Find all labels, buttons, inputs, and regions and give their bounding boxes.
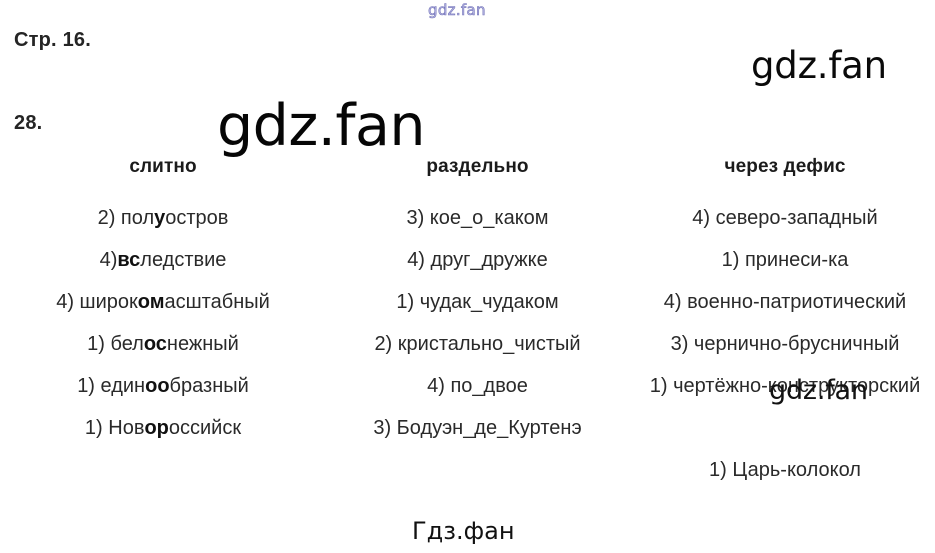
column-header: через дефис <box>724 155 845 179</box>
answer-item: 4) широкомасштабный <box>56 281 270 323</box>
answer-text-prefix: 1) Нов <box>85 415 145 442</box>
answer-text-suffix: ледствие <box>140 247 226 274</box>
answer-item: 4) военно-патриотический <box>664 281 906 323</box>
watermark-top: gdz.fan <box>428 1 486 19</box>
answer-item: 1) Новороссийск <box>85 407 241 449</box>
answer-columns: слитно 2) полуостров 4) вследствие 4) ши… <box>0 155 935 491</box>
answer-text-bold: оо <box>145 373 169 400</box>
answer-item: 1) принеси-ка <box>722 239 849 281</box>
answer-item: 1) чудак_чудаком <box>396 281 558 323</box>
answer-item: 4) по_двое <box>427 365 528 407</box>
answer-text-suffix: оссийск <box>169 415 241 442</box>
answer-column-razdelno: раздельно 3) кое_о_каком 4) друг_дружке … <box>320 155 635 449</box>
answer-item: 4) северо-западный <box>692 197 877 239</box>
answer-text-bold: ос <box>144 331 167 358</box>
watermark-center: gdz.fan <box>217 93 425 159</box>
column-header: слитно <box>129 155 196 179</box>
watermark-top-right: gdz.fan <box>751 44 887 87</box>
answer-item: 1) белоснежный <box>87 323 239 365</box>
answer-text-prefix: 4) широк <box>56 289 138 316</box>
watermark-bottom: Гдз.фан <box>412 517 515 545</box>
answer-column-slitno: слитно 2) полуостров 4) вследствие 4) ши… <box>0 155 320 449</box>
page-label: Стр. 16. <box>14 29 91 52</box>
answer-item: 1) Царь-колокол <box>709 449 861 491</box>
answer-text-suffix: остров <box>165 205 228 232</box>
answer-item: 2) кристально_чистый <box>374 323 580 365</box>
answer-item: 1) единообразный <box>77 365 249 407</box>
answer-text-prefix: 4) <box>100 247 118 274</box>
answer-column-cherez-defis: через дефис 4) северо-западный 1) принес… <box>635 155 935 491</box>
answer-text-bold: ор <box>144 415 168 442</box>
answer-text-bold: вс <box>117 247 140 274</box>
answer-item: 3) Бодуэн_де_Куртенэ <box>373 407 581 449</box>
answer-item: 3) чернично-брусничный <box>671 323 900 365</box>
answer-item: 2) полуостров <box>98 197 229 239</box>
answer-item: 4) вследствие <box>100 239 227 281</box>
answer-item: 3) кое_о_каком <box>406 197 548 239</box>
task-number: 28. <box>14 112 42 135</box>
answer-text-bold: у <box>154 205 165 232</box>
answer-text-suffix: асштабный <box>165 289 270 316</box>
page-root: { "page": { "page_label": "Стр. 16.", "t… <box>0 0 935 553</box>
answer-text-prefix: 1) бел <box>87 331 144 358</box>
answer-text-prefix: 1) един <box>77 373 145 400</box>
answer-text-suffix: нежный <box>167 331 239 358</box>
answer-item: 1) чертёжно-конструкторский <box>650 365 921 449</box>
column-header: раздельно <box>426 155 528 179</box>
answer-item: 4) друг_дружке <box>407 239 548 281</box>
answer-text-prefix: 2) пол <box>98 205 155 232</box>
answer-text-bold: ом <box>138 289 165 316</box>
answer-text-suffix: бразный <box>170 373 249 400</box>
